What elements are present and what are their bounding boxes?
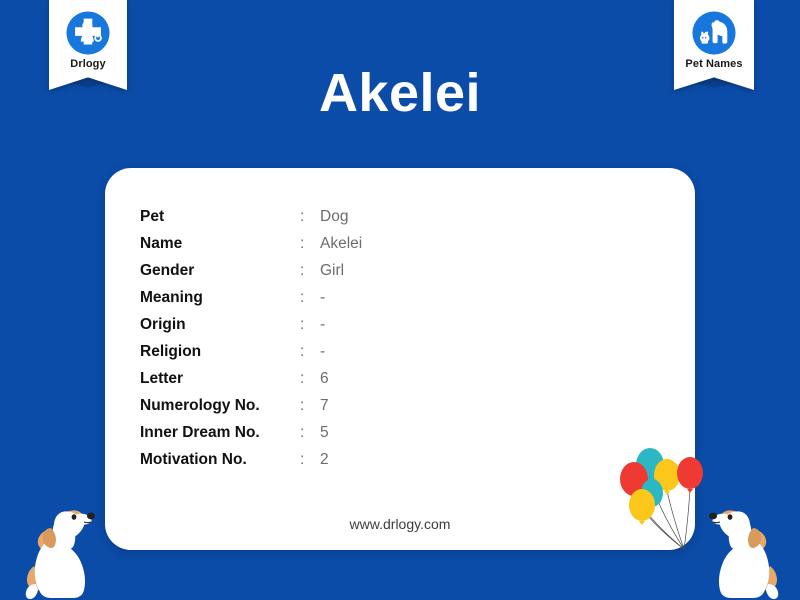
pet-name-card: Pet : Dog Name : Akelei Gender : Girl Me… bbox=[105, 168, 695, 550]
dog-cat-icon bbox=[691, 10, 737, 56]
row-label: Name bbox=[140, 235, 300, 253]
row-separator: : bbox=[300, 289, 320, 307]
row-value: 7 bbox=[320, 397, 329, 415]
row-label: Letter bbox=[140, 370, 300, 388]
row-separator: : bbox=[300, 397, 320, 415]
row-separator: : bbox=[300, 343, 320, 361]
page-title: Akelei bbox=[0, 66, 800, 120]
table-row: Pet : Dog bbox=[140, 208, 362, 235]
row-label: Origin bbox=[140, 316, 300, 334]
row-label: Meaning bbox=[140, 289, 300, 307]
table-row: Letter : 6 bbox=[140, 370, 362, 397]
row-label: Religion bbox=[140, 343, 300, 361]
table-row: Meaning : - bbox=[140, 289, 362, 316]
pet-details-table: Pet : Dog Name : Akelei Gender : Girl Me… bbox=[140, 208, 362, 478]
row-label: Numerology No. bbox=[140, 397, 300, 415]
table-row: Religion : - bbox=[140, 343, 362, 370]
row-value: 2 bbox=[320, 451, 329, 469]
row-separator: : bbox=[300, 208, 320, 226]
row-separator: : bbox=[300, 235, 320, 253]
row-label: Pet bbox=[140, 208, 300, 226]
row-value: - bbox=[320, 316, 325, 334]
row-value: Girl bbox=[320, 262, 344, 280]
table-row: Numerology No. : 7 bbox=[140, 397, 362, 424]
sitting-dog-right bbox=[694, 492, 790, 600]
row-value: - bbox=[320, 289, 325, 307]
table-row: Name : Akelei bbox=[140, 235, 362, 262]
poster-canvas: Drlogy Pet Names Akelei Pet : bbox=[0, 0, 800, 600]
row-separator: : bbox=[300, 451, 320, 469]
table-row: Motivation No. : 2 bbox=[140, 451, 362, 478]
row-value: 6 bbox=[320, 370, 329, 388]
table-row: Inner Dream No. : 5 bbox=[140, 424, 362, 451]
row-value: - bbox=[320, 343, 325, 361]
row-separator: : bbox=[300, 370, 320, 388]
table-row: Origin : - bbox=[140, 316, 362, 343]
row-value: Dog bbox=[320, 208, 348, 226]
table-row: Gender : Girl bbox=[140, 262, 362, 289]
row-value: 5 bbox=[320, 424, 329, 442]
website-url: www.drlogy.com bbox=[105, 516, 695, 532]
row-separator: : bbox=[300, 316, 320, 334]
row-separator: : bbox=[300, 424, 320, 442]
doctor-cross-icon bbox=[65, 10, 111, 56]
row-value: Akelei bbox=[320, 235, 362, 253]
row-label: Motivation No. bbox=[140, 451, 300, 469]
sitting-dog-left bbox=[14, 492, 110, 600]
row-separator: : bbox=[300, 262, 320, 280]
row-label: Inner Dream No. bbox=[140, 424, 300, 442]
row-label: Gender bbox=[140, 262, 300, 280]
